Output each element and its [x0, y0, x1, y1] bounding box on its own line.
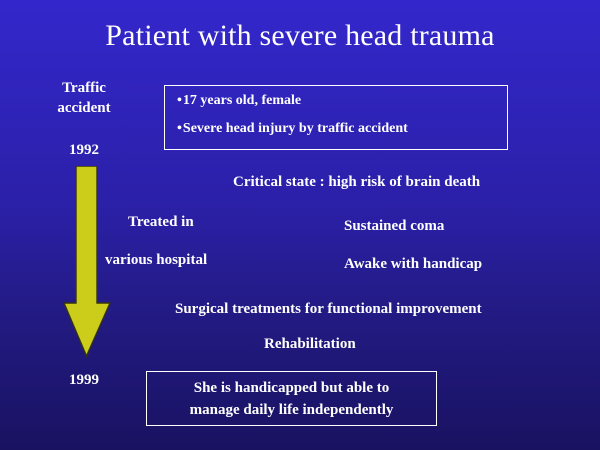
flow-text-treated-in: Treated in: [128, 212, 194, 232]
flow-text-awake-with-handicap: Awake with handicap: [344, 254, 482, 274]
presentation-slide: Patient with severe head trauma Traffic …: [0, 0, 600, 450]
list-item-label: 17 years old, female: [183, 93, 301, 108]
outcome-box: She is handicapped but able to manage da…: [146, 371, 437, 426]
flow-text-various-hospital: various hospital: [105, 250, 207, 270]
timeline-start-year: 1992: [28, 140, 140, 160]
outcome-line-1: She is handicapped but able to: [147, 377, 436, 399]
page-title: Patient with severe head trauma: [0, 18, 600, 54]
bullet-icon: •: [177, 92, 182, 110]
flow-text-sustained-coma: Sustained coma: [344, 216, 444, 236]
outcome-line-2: manage daily life independently: [147, 399, 436, 421]
patient-info-box: •17 years old, female •Severe head injur…: [164, 85, 508, 150]
flow-text-rehabilitation: Rehabilitation: [264, 334, 356, 354]
flow-text-critical-state: Critical state : high risk of brain deat…: [233, 172, 480, 192]
bullet-icon: •: [177, 120, 182, 138]
timeline-start-label: Traffic accident: [28, 78, 140, 118]
timeline-start-label-line2: accident: [28, 98, 140, 118]
list-item: •Severe head injury by traffic accident: [177, 120, 507, 138]
timeline-end-year: 1999: [28, 370, 140, 390]
timeline-start-label-line1: Traffic: [28, 78, 140, 98]
list-item-label: Severe head injury by traffic accident: [183, 121, 408, 136]
list-item: •17 years old, female: [177, 92, 507, 110]
flow-text-surgical-treatments: Surgical treatments for functional impro…: [175, 299, 482, 319]
